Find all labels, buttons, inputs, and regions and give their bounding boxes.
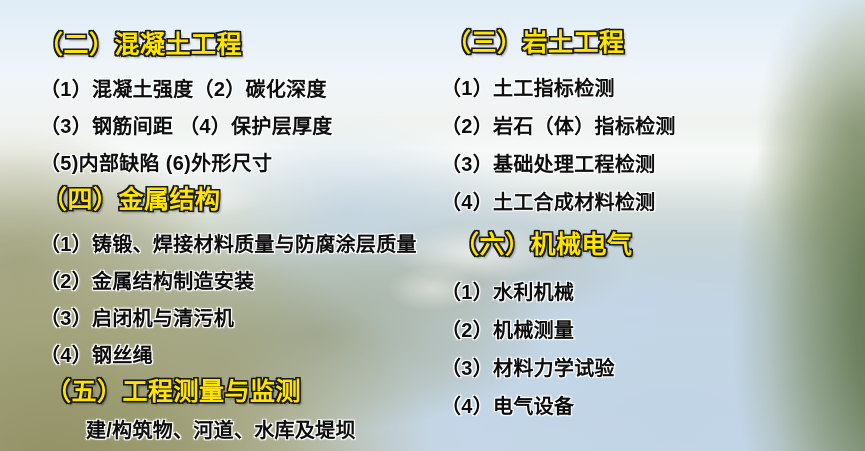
list-item: （5)内部缺陷 (6)外形尺寸 (40, 154, 272, 174)
list-item: （3）材料力学试验 (441, 359, 615, 379)
list-item: （3）钢筋间距 （4）保护层厚度 (40, 117, 333, 137)
left-column: （二）混凝土工程 （1）混凝土强度（2）碳化深度 （3）钢筋间距 （4）保护层厚… (0, 0, 432, 451)
section-heading-geotechnical: （三）岩土工程 (446, 31, 625, 56)
list-item: （3）启闭机与清污机 (40, 309, 234, 329)
section-heading-metal-structure: （四）金属结构 (42, 188, 221, 213)
list-item: （2）岩石（体）指标检测 (441, 117, 676, 137)
section-heading-concrete: （二）混凝土工程 (38, 33, 242, 58)
list-item: （3）基础处理工程检测 (441, 155, 655, 175)
list-item: 建/构筑物、河道、水库及堤坝 (86, 421, 356, 441)
list-item: （1）水利机械 (441, 283, 574, 303)
list-item: （4）电气设备 (441, 397, 574, 417)
slide-canvas: （二）混凝土工程 （1）混凝土强度（2）碳化深度 （3）钢筋间距 （4）保护层厚… (0, 0, 865, 451)
section-heading-engineering-survey: （五）工程测量与监测 (46, 380, 301, 405)
list-item: （1）土工指标检测 (441, 79, 615, 99)
list-item: （4）钢丝绳 (40, 346, 153, 366)
section-heading-mechanical-electrical: （六）机械电气 (454, 233, 633, 258)
list-item: （4）土工合成材料检测 (441, 193, 655, 213)
list-item: （2）金属结构制造安装 (40, 272, 254, 292)
list-item: （2）机械测量 (441, 321, 574, 341)
list-item: （1）混凝土强度（2）碳化深度 (40, 80, 327, 100)
list-item: （1）铸锻、焊接材料质量与防腐涂层质量 (40, 235, 417, 255)
right-column: （三）岩土工程 （1）土工指标检测 （2）岩石（体）指标检测 （3）基础处理工程… (432, 0, 865, 451)
